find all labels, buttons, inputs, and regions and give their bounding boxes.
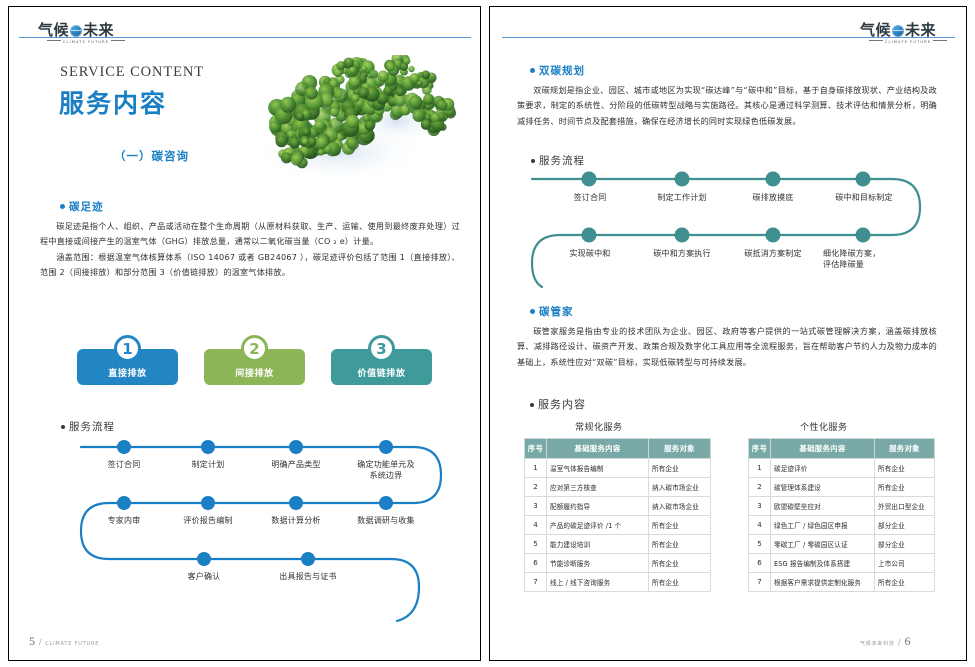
left-flow-step-4: 确定功能单元及 系统边界: [344, 459, 428, 481]
left-page-number: 5: [29, 634, 36, 648]
col-service: 基础服务内容: [771, 439, 875, 459]
section-subtitle: （一）碳咨询: [114, 148, 189, 164]
table-row: 3配额履约指导纳入碳市场企业: [525, 497, 711, 516]
cell-service: ESG 报告编制及体系搭建: [771, 554, 875, 573]
cell-index: 7: [749, 573, 771, 592]
emission-badge-3-number: 3: [376, 340, 386, 358]
emission-box-1-label: 直接排放: [108, 366, 146, 379]
col-index: 序号: [749, 439, 771, 459]
right-flow-step-5: 细化降碳方案， 评估降碳量: [823, 248, 909, 270]
left-flow-heading: 服务流程: [61, 419, 115, 434]
logo-en-text: CLIMATE FUTURE: [63, 40, 109, 44]
carbon-footprint-body: 碳足迹是指个人、组织、产品或活动在整个生命周期（从原材料获取、生产、运输、使用到…: [40, 219, 460, 281]
cell-service: 产品的碳足迹评价 /1 个: [547, 516, 649, 535]
right-footer-label: 气候未来科技: [860, 641, 895, 647]
cell-service: 应对第三方核查: [547, 478, 649, 497]
right-flow-step-8: 实现碳中和: [555, 248, 625, 259]
cell-index: 3: [749, 497, 771, 516]
logo-zh-first: 气候: [38, 21, 69, 39]
logo-en-text: CLIMATE FUTURE: [885, 40, 931, 44]
table-row: 4产品的碳足迹评价 /1 个所有企业: [525, 516, 711, 535]
dual-carbon-heading: 双碳规划: [530, 63, 585, 78]
cell-index: 1: [749, 459, 771, 478]
bullet-dot-icon: [530, 309, 535, 314]
bullet-dot-icon: [61, 425, 65, 429]
cell-target: 所有企业: [649, 554, 711, 573]
cell-index: 1: [525, 459, 547, 478]
right-page-number: 6: [904, 634, 911, 648]
table-row: 5零碳工厂 / 零碳园区认证部分企业: [749, 535, 935, 554]
carbon-butler-heading: 碳管家: [530, 304, 574, 319]
emission-box-3-label: 价值链排放: [357, 366, 405, 379]
right-service-flow: 签订合同 制定工作计划 碳排放摸底 碳中和目标制定 细化降碳方案， 评估降碳量 …: [520, 171, 940, 291]
cell-target: 外贸出口型企业: [875, 497, 935, 516]
table-row: 2应对第三方核查纳入碳市场企业: [525, 478, 711, 497]
emission-badge-2: 2: [241, 335, 268, 362]
cell-service: 配额履约指导: [547, 497, 649, 516]
right-flow-step-6: 碳抵消方案制定: [726, 248, 820, 259]
table-row: 2碳管理体系建设所有企业: [749, 478, 935, 497]
service-content-heading: 服务内容: [530, 396, 586, 412]
right-flow-heading-text: 服务流程: [539, 155, 585, 167]
carbon-footprint-heading-text: 碳足迹: [69, 201, 104, 213]
table-row: 7线上 / 线下咨询服务所有企业: [525, 573, 711, 592]
logo-rule-left: [869, 40, 883, 41]
emission-badge-1: 1: [114, 335, 141, 362]
table-row: 5能力建设培训所有企业: [525, 535, 711, 554]
left-flow-step-6: 数据计算分析: [258, 515, 334, 526]
left-flow-step-3: 明确产品类型: [254, 459, 338, 470]
service-content-heading-text: 服务内容: [538, 398, 586, 411]
logo-wordmark: 气候未来: [860, 22, 956, 39]
cell-target: 上市公司: [875, 554, 935, 573]
left-flow-step-1: 签订合同: [89, 459, 159, 470]
cell-index: 4: [525, 516, 547, 535]
right-flow-heading: 服务流程: [531, 153, 585, 168]
right-logo: 气候未来 CLIMATE FUTURE: [860, 22, 956, 52]
section-title-en: SERVICE CONTENT: [60, 64, 204, 81]
carbon-butler-body: 碳管家服务是指由专业的技术团队为企业、园区、政府等客户提供的一站式碳管理解决方案…: [517, 324, 937, 370]
brochure-spread: 气候未来 CLIMATE FUTURE SERVICE CONTENT 服务内容…: [0, 0, 975, 667]
logo-rule-right: [111, 40, 125, 41]
cell-index: 6: [525, 554, 547, 573]
col-index: 序号: [525, 439, 547, 459]
right-footer: 气候未来科技/6: [860, 634, 911, 649]
dual-carbon-body: 双碳规划是指企业、园区、城市或地区为实现“碳达峰”与“碳中和”目标，基于自身碳排…: [517, 83, 937, 129]
custom-service-table-body: 1碳足迹评价所有企业2碳管理体系建设所有企业3欧盟碳壁垒应对外贸出口型企业4绿色…: [749, 459, 935, 592]
globe-icon: [892, 25, 904, 37]
cell-target: 所有企业: [875, 573, 935, 592]
cell-index: 3: [525, 497, 547, 516]
carbon-butler-paragraph: 碳管家服务是指由专业的技术团队为企业、园区、政府等客户提供的一站式碳管理解决方案…: [517, 324, 937, 370]
table-row: 3欧盟碳壁垒应对外贸出口型企业: [749, 497, 935, 516]
left-service-flow: 签订合同 制定计划 明确产品类型 确定功能单元及 系统边界 数据调研与收集 数据…: [61, 437, 461, 637]
cell-index: 4: [749, 516, 771, 535]
cell-service: 节能诊断服务: [547, 554, 649, 573]
cell-target: 所有企业: [649, 459, 711, 478]
section-title-zh: 服务内容: [59, 84, 167, 120]
left-flow-step-5: 数据调研与收集: [344, 515, 428, 526]
cell-index: 2: [525, 478, 547, 497]
globe-icon: [70, 25, 82, 37]
emission-scope-boxes: 直接排放 1 间接排放 2 价值链排放 3: [77, 335, 437, 395]
table-row: 1温室气体报告编制所有企业: [525, 459, 711, 478]
col-target: 服务对象: [875, 439, 935, 459]
carbon-butler-heading-text: 碳管家: [539, 306, 574, 318]
cell-target: 所有企业: [875, 459, 935, 478]
right-page: 气候未来 CLIMATE FUTURE 双碳规划 双碳规划是指企业、园区、城市或…: [489, 6, 967, 661]
left-flow-step-9: 客户确认: [170, 571, 238, 582]
logo-zh-first: 气候: [860, 21, 891, 39]
dual-carbon-heading-text: 双碳规划: [539, 65, 585, 77]
left-flow-step-8: 专家内审: [90, 515, 158, 526]
right-flow-step-7: 碳中和方案执行: [637, 248, 727, 259]
cell-service: 能力建设培训: [547, 535, 649, 554]
cell-target: 所有企业: [649, 573, 711, 592]
left-flow-step-7: 评价报告编制: [170, 515, 246, 526]
right-flow-step-4: 碳中和目标制定: [819, 192, 909, 203]
standard-service-caption: 常规化服务: [575, 420, 623, 433]
table-row: 7根据客户需求提供定制化服务所有企业: [749, 573, 935, 592]
left-footer: 5/CLIMATE FUTURE: [29, 634, 99, 649]
left-footer-label: CLIMATE FUTURE: [45, 641, 99, 647]
bullet-dot-icon: [530, 68, 535, 73]
col-service: 基础服务内容: [547, 439, 649, 459]
emission-badge-1-number: 1: [122, 340, 132, 358]
bullet-dot-icon: [530, 403, 534, 407]
forest-footprint-illustration: [247, 55, 462, 205]
col-target: 服务对象: [649, 439, 711, 459]
logo-tagline: CLIMATE FUTURE: [38, 40, 134, 44]
footer-slash: /: [898, 638, 902, 648]
table-header-row: 序号 基础服务内容 服务对象: [525, 439, 711, 459]
cell-service: 欧盟碳壁垒应对: [771, 497, 875, 516]
cell-target: 所有企业: [649, 535, 711, 554]
cell-service: 碳足迹评价: [771, 459, 875, 478]
cell-service: 根据客户需求提供定制化服务: [771, 573, 875, 592]
left-logo: 气候未来 CLIMATE FUTURE: [38, 22, 134, 52]
dual-carbon-paragraph: 双碳规划是指企业、园区、城市或地区为实现“碳达峰”与“碳中和”目标，基于自身碳排…: [517, 83, 937, 129]
cell-service: 线上 / 线下咨询服务: [547, 573, 649, 592]
bullet-dot-icon: [531, 159, 535, 163]
cell-target: 纳入碳市场企业: [649, 478, 711, 497]
emission-badge-3: 3: [368, 335, 395, 362]
table-header-row: 序号 基础服务内容 服务对象: [749, 439, 935, 459]
emission-badge-2-number: 2: [249, 340, 259, 358]
table-row: 4绿色工厂 / 绿色园区申报部分企业: [749, 516, 935, 535]
cell-target: 所有企业: [649, 516, 711, 535]
logo-tagline: CLIMATE FUTURE: [860, 40, 956, 44]
carbon-footprint-heading: 碳足迹: [60, 199, 104, 214]
bullet-dot-icon: [60, 204, 65, 209]
cell-index: 5: [749, 535, 771, 554]
cell-service: 绿色工厂 / 绿色园区申报: [771, 516, 875, 535]
cell-service: 碳管理体系建设: [771, 478, 875, 497]
right-flow-step-3: 碳排放摸底: [735, 192, 811, 203]
table-row: 6ESG 报告编制及体系搭建上市公司: [749, 554, 935, 573]
cell-index: 7: [525, 573, 547, 592]
cell-target: 所有企业: [875, 478, 935, 497]
standard-service-table-body: 1温室气体报告编制所有企业2应对第三方核查纳入碳市场企业3配额履约指导纳入碳市场…: [525, 459, 711, 592]
left-flow-heading-text: 服务流程: [69, 421, 115, 433]
carbon-footprint-paragraph-1: 碳足迹是指个人、组织、产品或活动在整个生命周期（从原材料获取、生产、运输、使用到…: [40, 219, 460, 250]
logo-zh-second: 未来: [905, 21, 936, 39]
custom-service-table: 序号 基础服务内容 服务对象 1碳足迹评价所有企业2碳管理体系建设所有企业3欧盟…: [748, 438, 935, 592]
cell-service: 温室气体报告编制: [547, 459, 649, 478]
right-flow-step-2: 制定工作计划: [639, 192, 725, 203]
right-flow-step-1: 签订合同: [555, 192, 625, 203]
logo-rule-right: [933, 40, 947, 41]
cell-index: 5: [525, 535, 547, 554]
cell-index: 2: [749, 478, 771, 497]
left-flow-step-2: 制定计划: [173, 459, 243, 470]
cell-service: 零碳工厂 / 零碳园区认证: [771, 535, 875, 554]
footer-slash: /: [39, 638, 43, 648]
carbon-footprint-paragraph-2: 涵盖范围：根据温室气体核算体系（ISO 14067 或者 GB24067 ），碳…: [40, 250, 460, 281]
emission-box-2-label: 间接排放: [235, 366, 273, 379]
cell-target: 部分企业: [875, 516, 935, 535]
cell-target: 纳入碳市场企业: [649, 497, 711, 516]
logo-rule-left: [47, 40, 61, 41]
cell-index: 6: [749, 554, 771, 573]
table-row: 1碳足迹评价所有企业: [749, 459, 935, 478]
cell-target: 部分企业: [875, 535, 935, 554]
logo-zh-second: 未来: [83, 21, 114, 39]
table-row: 6节能诊断服务所有企业: [525, 554, 711, 573]
logo-wordmark: 气候未来: [38, 22, 134, 39]
left-flow-step-10: 出具报告与证书: [264, 571, 352, 582]
custom-service-caption: 个性化服务: [800, 420, 848, 433]
left-page: 气候未来 CLIMATE FUTURE SERVICE CONTENT 服务内容…: [8, 6, 481, 661]
standard-service-table: 序号 基础服务内容 服务对象 1温室气体报告编制所有企业2应对第三方核查纳入碳市…: [524, 438, 711, 592]
